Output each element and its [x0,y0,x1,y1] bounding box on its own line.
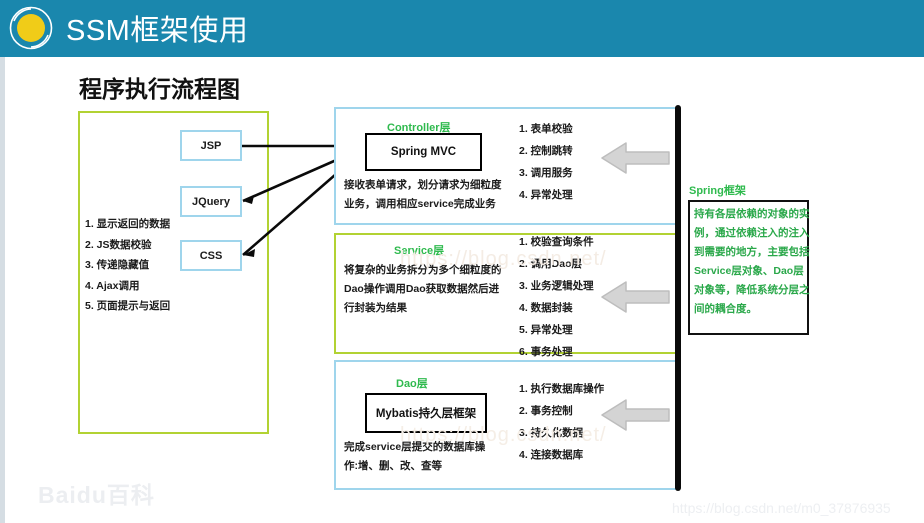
dao-layer-steps: 1. 执行数据库操作 2. 事务控制 3. 持久化数据 4. 连接数据库 [519,378,604,466]
spring-framework-heading: Spring框架 [689,182,746,198]
dao-arrow-left-icon [600,396,672,434]
list-item: 4. Ajax调用 [85,276,265,297]
step-item: 4. 数据封装 [519,297,594,319]
description-line: 作:增、删、改、查等 [344,457,485,476]
step-item: 3. 调用服务 [519,162,573,184]
step-item: 1. 执行数据库操作 [519,378,604,400]
step-item: 2. 事务控制 [519,400,604,422]
left-edge-strip [0,57,5,523]
page-title: 程序执行流程图 [79,70,240,104]
spring-text-line: 对象等，降低系统分层之 [694,281,806,300]
tech-box-jquery: JQuery [180,186,242,217]
spring-text-line: 例，通过依赖注入的注入 [694,224,806,243]
tech-box-jsp: JSP [180,130,242,161]
diagram-watermark-secondary: https://blog.csdn.net/ [400,424,607,447]
controller-layer-description: 接收表单请求，划分请求为细粒度 业务，调用相应service完成业务 [344,176,502,214]
step-item: 1. 表单校验 [519,118,573,140]
dao-layer-heading: Dao层 [396,375,428,391]
description-line: Dao操作调用Dao获取数据然后进 [344,280,502,299]
controller-arrow-left-icon [600,139,672,177]
step-item: 3. 业务逻辑处理 [519,275,594,297]
controller-framework-box: Spring MVC [365,133,482,171]
spring-spine-bar [675,105,681,491]
step-item: 2. 控制跳转 [519,140,573,162]
step-item: 4. 连接数据库 [519,444,604,466]
app-logo-icon [8,5,54,51]
slide-canvas: SSM框架使用 程序执行流程图 1. 显示返回的数据 2. JS数据校验 3. … [0,0,924,523]
controller-layer-steps: 1. 表单校验 2. 控制跳转 3. 调用服务 4. 异常处理 [519,118,573,206]
step-item: 4. 异常处理 [519,184,573,206]
description-line: 行封装为结果 [344,299,502,318]
spring-framework-text: 持有各层依赖的对象的实 例，通过依赖注入的注入 到需要的地方，主要包括 Serv… [694,205,806,319]
step-item: 5. 异常处理 [519,319,594,341]
list-item: 1. 显示返回的数据 [85,214,265,235]
description-line: 接收表单请求，划分请求为细粒度 [344,176,502,195]
tech-box-css: CSS [180,240,242,271]
spring-text-line: Service层对象、Dao层 [694,262,806,281]
csdn-watermark: https://blog.csdn.net/m0_37876935 [672,500,891,516]
diagram-watermark: https://blog.csdn.net/ [400,248,607,271]
list-item: 5. 页面提示与返回 [85,296,265,317]
spring-text-line: 间的耦合度。 [694,300,806,319]
baidu-watermark: Baidu百科 [38,476,155,510]
service-arrow-left-icon [600,278,672,316]
header-title: SSM框架使用 [66,7,248,49]
description-line: 业务，调用相应service完成业务 [344,195,502,214]
spring-text-line: 持有各层依赖的对象的实 [694,205,806,224]
spring-text-line: 到需要的地方，主要包括 [694,243,806,262]
